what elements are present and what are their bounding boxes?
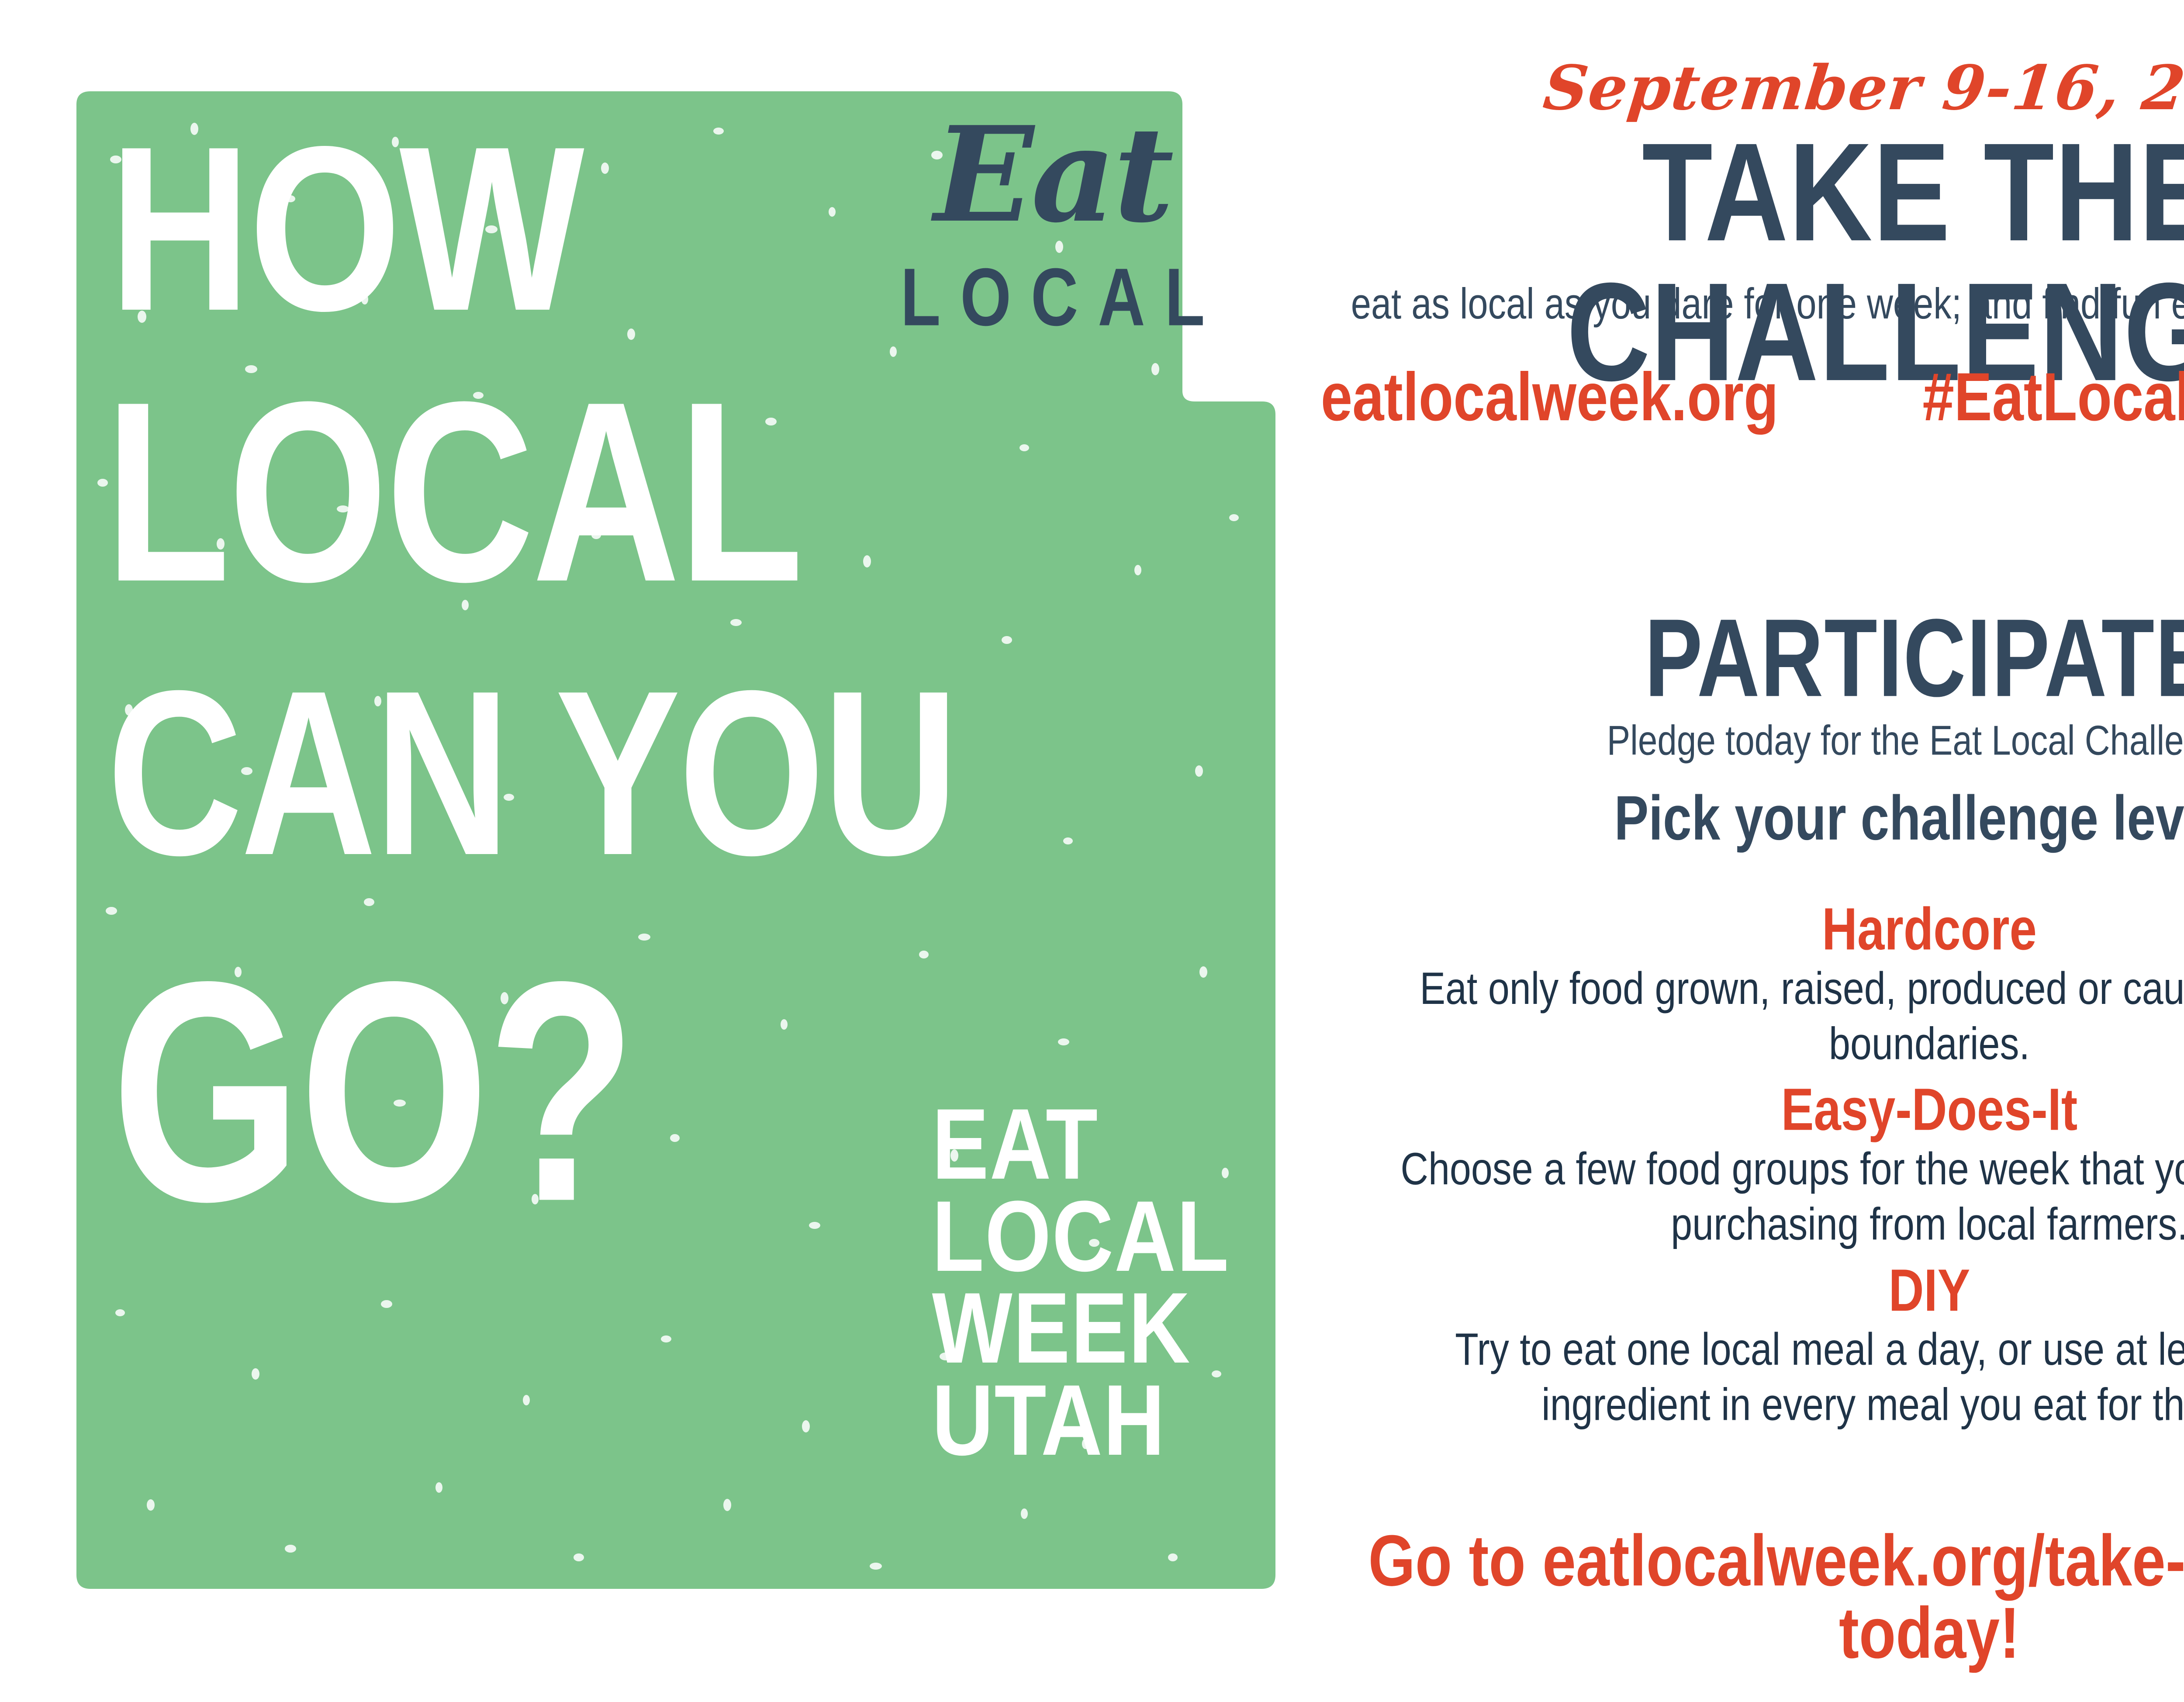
eat-local-logo-script: Eat: [856, 109, 1249, 240]
level-description: Try to eat one local meal a day, or use …: [1367, 1321, 2184, 1432]
challenge-level-hardcore[interactable]: Hardcore Eat only food grown, raised, pr…: [1367, 898, 2184, 1054]
event-date: September 9-16, 2017: [1306, 52, 2184, 124]
eat-local-logo: Eat LOCAL: [856, 109, 1249, 325]
level-name: Hardcore: [1367, 898, 2184, 960]
links-row: eatlocalweek.org #EatLocalChallengeUT: [1310, 363, 2184, 419]
participate-subtitle: Pledge today for the Eat Local Challenge…: [1310, 716, 2184, 765]
participate-heading: PARTICIPATE: [1298, 603, 2184, 714]
challenge-level-diy[interactable]: DIY Try to eat one local meal a day, or …: [1367, 1259, 2184, 1415]
challenge-levels-list: Hardcore Eat only food grown, raised, pr…: [1367, 898, 2184, 1439]
headline-line-local: LOCAL: [105, 387, 802, 597]
level-name: Easy-Does-It: [1367, 1078, 2184, 1141]
challenge-level-easy-does-it[interactable]: Easy-Does-It Choose a few food groups fo…: [1367, 1078, 2184, 1235]
pledge-cta-link[interactable]: Go to eatlocalweek.org/take-the-pledge t…: [1310, 1525, 2184, 1669]
headline-line-go: GO?: [111, 963, 634, 1220]
headline-line-how: HOW: [109, 133, 582, 325]
pick-level-prompt: Pick your challenge level:: [1310, 782, 2184, 854]
level-name: DIY: [1367, 1259, 2184, 1321]
info-column: September 9-16, 2017 TAKE THE CHALLENGE …: [1310, 0, 2184, 1702]
headline-line-can-you: CAN YOU: [107, 677, 957, 870]
website-link[interactable]: eatlocalweek.org: [1321, 363, 1779, 431]
utah-graphic-panel: HOW LOCAL CAN YOU GO? EAT LOCAL WEEK UTA…: [0, 0, 1310, 1702]
level-description: Choose a few food groups for the week th…: [1367, 1141, 2184, 1252]
brand-stack: EAT LOCAL WEEK UTAH: [932, 1090, 1230, 1458]
hashtag-label[interactable]: #EatLocalChallengeUT: [1923, 363, 2184, 431]
level-description: Eat only food grown, raised, produced or…: [1367, 961, 2184, 1071]
eat-local-logo-word: LOCAL: [856, 250, 1249, 344]
tagline: eat as local as you dare for one week; a…: [1310, 280, 2184, 328]
brand-stack-utah: UTAH: [932, 1366, 1230, 1475]
